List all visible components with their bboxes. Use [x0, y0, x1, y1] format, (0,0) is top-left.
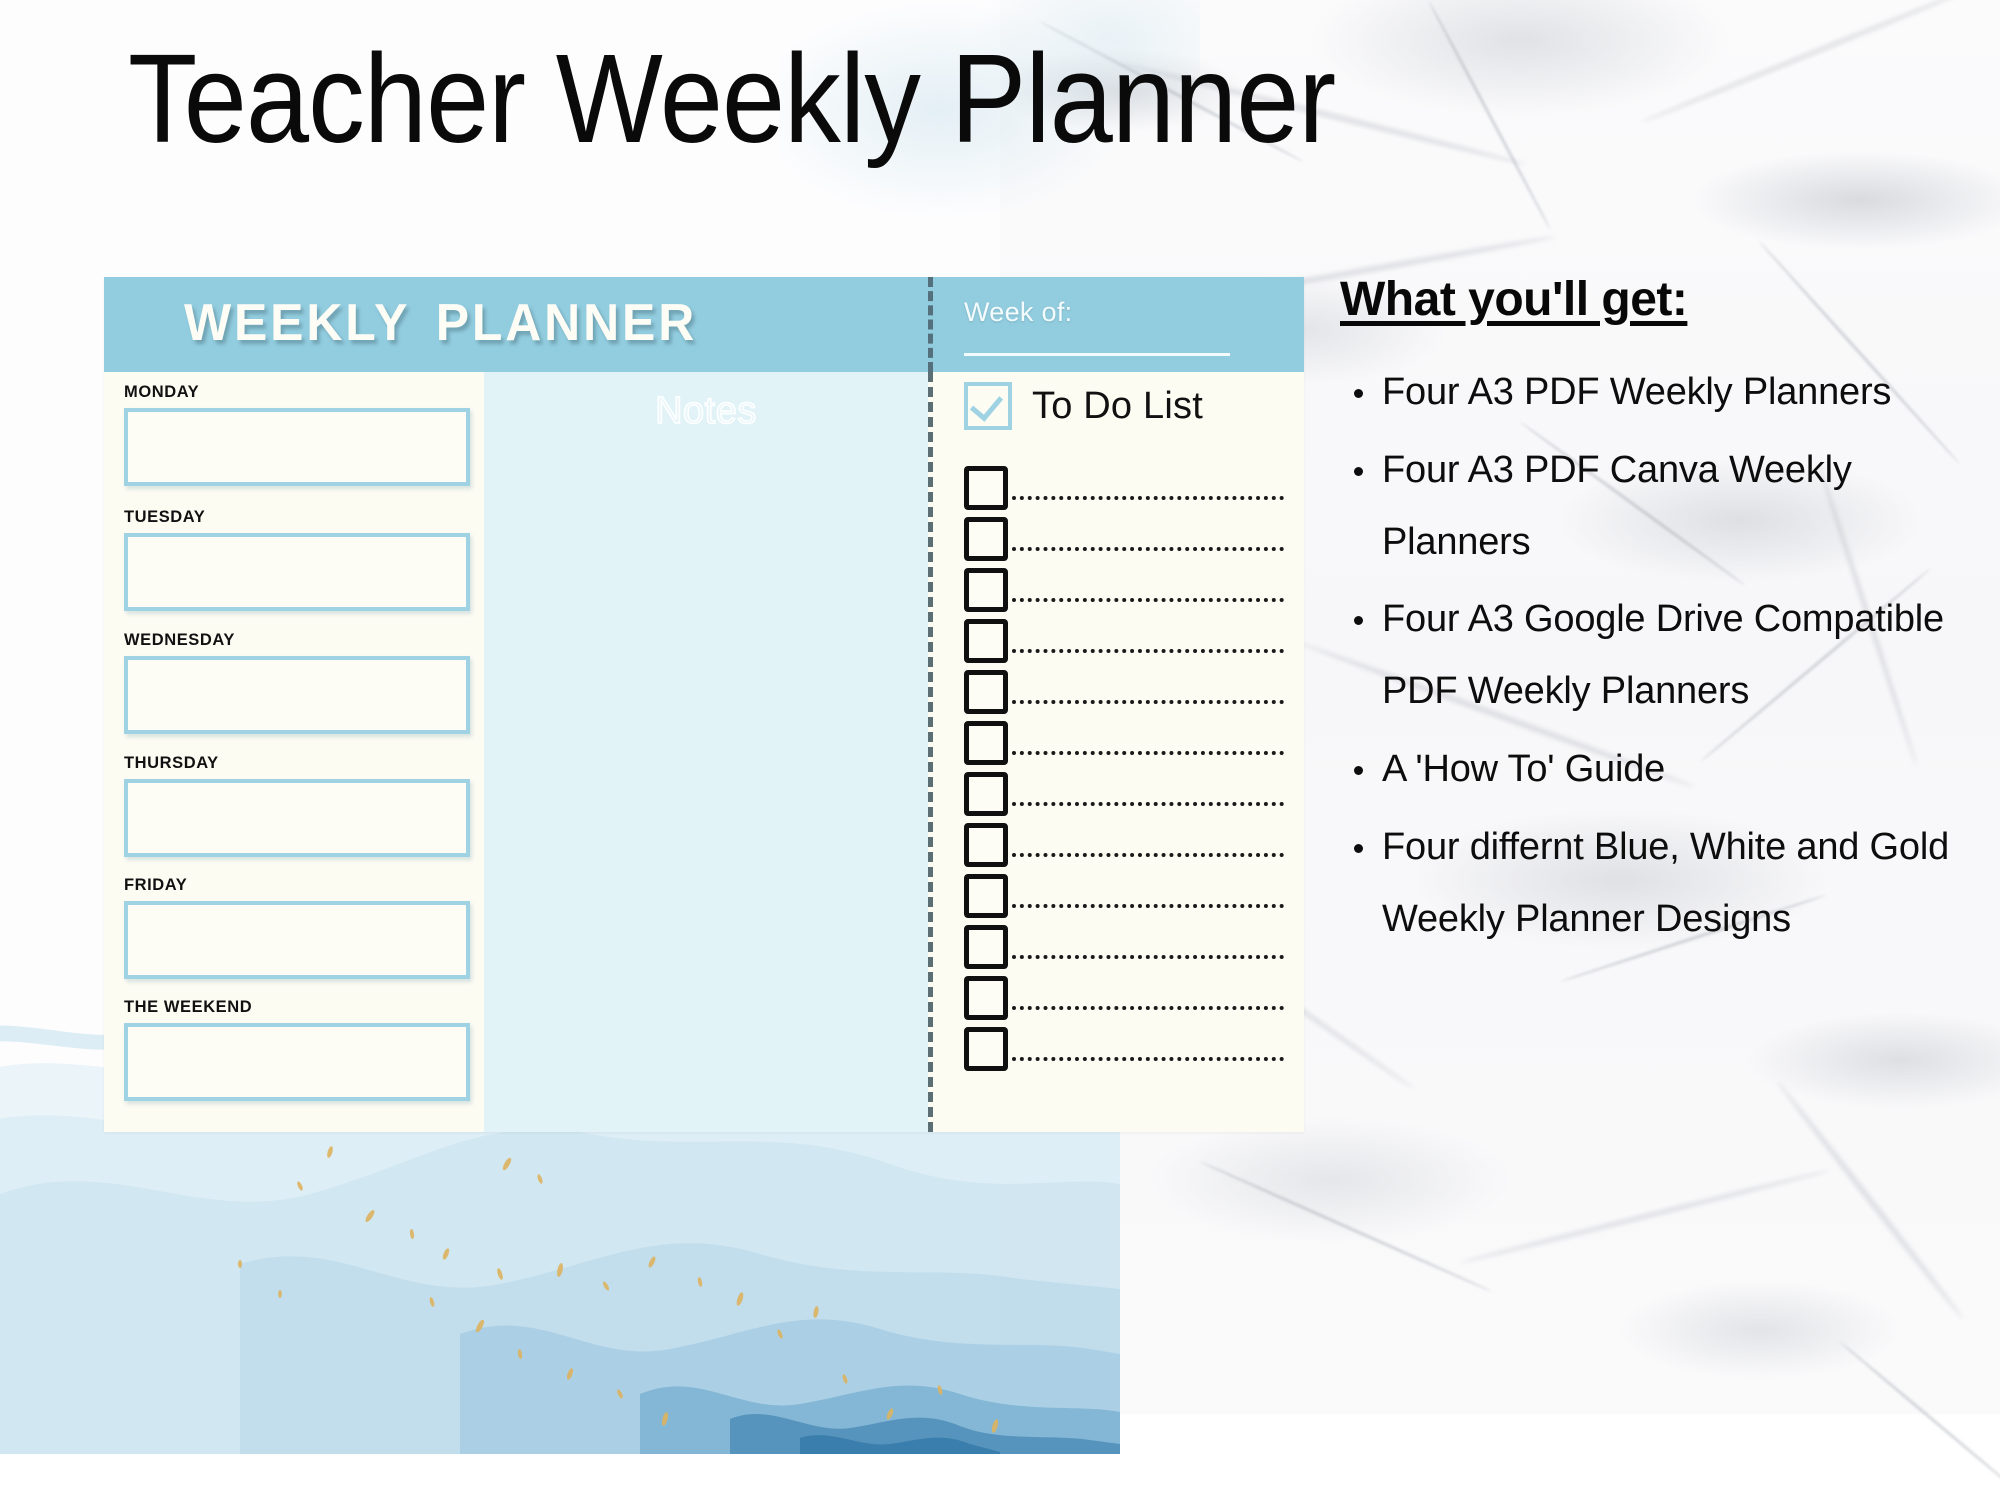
- todo-item[interactable]: [964, 772, 1284, 820]
- checkbox-empty-icon[interactable]: [964, 670, 1008, 714]
- todo-item[interactable]: [964, 823, 1284, 871]
- todo-item[interactable]: [964, 1027, 1284, 1075]
- day-entry-monday[interactable]: [124, 408, 470, 486]
- day-block-tuesday: TUESDAY: [124, 507, 470, 611]
- todo-write-line: [1012, 1057, 1284, 1061]
- week-of-input-line[interactable]: [964, 353, 1230, 356]
- day-block-monday: MONDAY: [124, 382, 470, 486]
- list-item: A 'How To' Guide: [1340, 734, 1960, 806]
- day-entry-tuesday[interactable]: [124, 533, 470, 611]
- todo-dashed-divider: [928, 372, 933, 1132]
- what-youll-get-panel: What you'll get: Four A3 PDF Weekly Plan…: [1340, 272, 1960, 962]
- day-label-thursday: THURSDAY: [124, 753, 460, 773]
- days-column: MONDAY TUESDAY WEDNESDAY THURSDAY FRIDAY…: [104, 372, 484, 1132]
- checkbox-empty-icon[interactable]: [964, 466, 1008, 510]
- checkbox-empty-icon[interactable]: [964, 517, 1008, 561]
- day-label-the-weekend: THE WEEKEND: [124, 997, 460, 1017]
- checkbox-empty-icon[interactable]: [964, 823, 1008, 867]
- weekly-planner-card: WEEKLY PLANNER Week of: MONDAY TUESDAY W…: [104, 277, 1304, 1132]
- checkbox-empty-icon[interactable]: [964, 976, 1008, 1020]
- list-item: Four A3 Google Drive Compatible PDF Week…: [1340, 584, 1960, 728]
- planner-header-title: WEEKLY PLANNER: [184, 293, 856, 353]
- header-dashed-divider: [928, 277, 933, 372]
- checkbox-empty-icon[interactable]: [964, 721, 1008, 765]
- todo-item[interactable]: [964, 874, 1284, 922]
- list-item: Four A3 PDF Weekly Planners: [1340, 357, 1960, 429]
- list-item: Four A3 PDF Canva Weekly Planners: [1340, 435, 1960, 579]
- checkbox-empty-icon[interactable]: [964, 1027, 1008, 1071]
- todo-list-title: To Do List: [1032, 385, 1203, 428]
- day-entry-the-weekend[interactable]: [124, 1023, 470, 1101]
- todo-item[interactable]: [964, 517, 1284, 565]
- todo-item[interactable]: [964, 721, 1284, 769]
- todo-write-line: [1012, 700, 1284, 704]
- checkbox-checked-icon: [964, 382, 1012, 430]
- day-label-tuesday: TUESDAY: [124, 507, 460, 527]
- day-label-friday: FRIDAY: [124, 875, 460, 895]
- todo-item[interactable]: [964, 670, 1284, 718]
- notes-label: Notes: [484, 390, 928, 433]
- todo-write-line: [1012, 802, 1284, 806]
- features-list: Four A3 PDF Weekly Planners Four A3 PDF …: [1340, 357, 1960, 956]
- planner-header-bar: WEEKLY PLANNER Week of:: [104, 277, 1304, 372]
- day-entry-thursday[interactable]: [124, 779, 470, 857]
- todo-item[interactable]: [964, 619, 1284, 667]
- checkbox-empty-icon[interactable]: [964, 619, 1008, 663]
- todo-column: To Do List: [928, 372, 1304, 1132]
- todo-write-line: [1012, 547, 1284, 551]
- day-label-wednesday: WEDNESDAY: [124, 630, 460, 650]
- todo-write-line: [1012, 598, 1284, 602]
- what-youll-get-heading: What you'll get:: [1340, 272, 1960, 327]
- checkbox-empty-icon[interactable]: [964, 925, 1008, 969]
- todo-write-line: [1012, 904, 1284, 908]
- todo-item[interactable]: [964, 925, 1284, 973]
- todo-write-line: [1012, 1006, 1284, 1010]
- todo-write-line: [1012, 496, 1284, 500]
- day-block-thursday: THURSDAY: [124, 753, 470, 857]
- week-of-label: Week of:: [964, 297, 1072, 328]
- todo-write-line: [1012, 955, 1284, 959]
- list-item: Four differnt Blue, White and Gold Weekl…: [1340, 812, 1960, 956]
- todo-header: To Do List: [964, 382, 1203, 430]
- notes-column[interactable]: Notes: [484, 372, 928, 1132]
- todo-item[interactable]: [964, 568, 1284, 616]
- day-block-wednesday: WEDNESDAY: [124, 630, 470, 734]
- page-title: Teacher Weekly Planner: [128, 36, 1748, 162]
- todo-item[interactable]: [964, 976, 1284, 1024]
- checkbox-empty-icon[interactable]: [964, 874, 1008, 918]
- day-block-friday: FRIDAY: [124, 875, 470, 979]
- todo-write-line: [1012, 649, 1284, 653]
- day-block-the-weekend: THE WEEKEND: [124, 997, 470, 1101]
- todo-write-line: [1012, 853, 1284, 857]
- day-entry-friday[interactable]: [124, 901, 470, 979]
- checkbox-empty-icon[interactable]: [964, 568, 1008, 612]
- todo-item[interactable]: [964, 466, 1284, 514]
- day-label-monday: MONDAY: [124, 382, 460, 402]
- todo-write-line: [1012, 751, 1284, 755]
- day-entry-wednesday[interactable]: [124, 656, 470, 734]
- checkbox-empty-icon[interactable]: [964, 772, 1008, 816]
